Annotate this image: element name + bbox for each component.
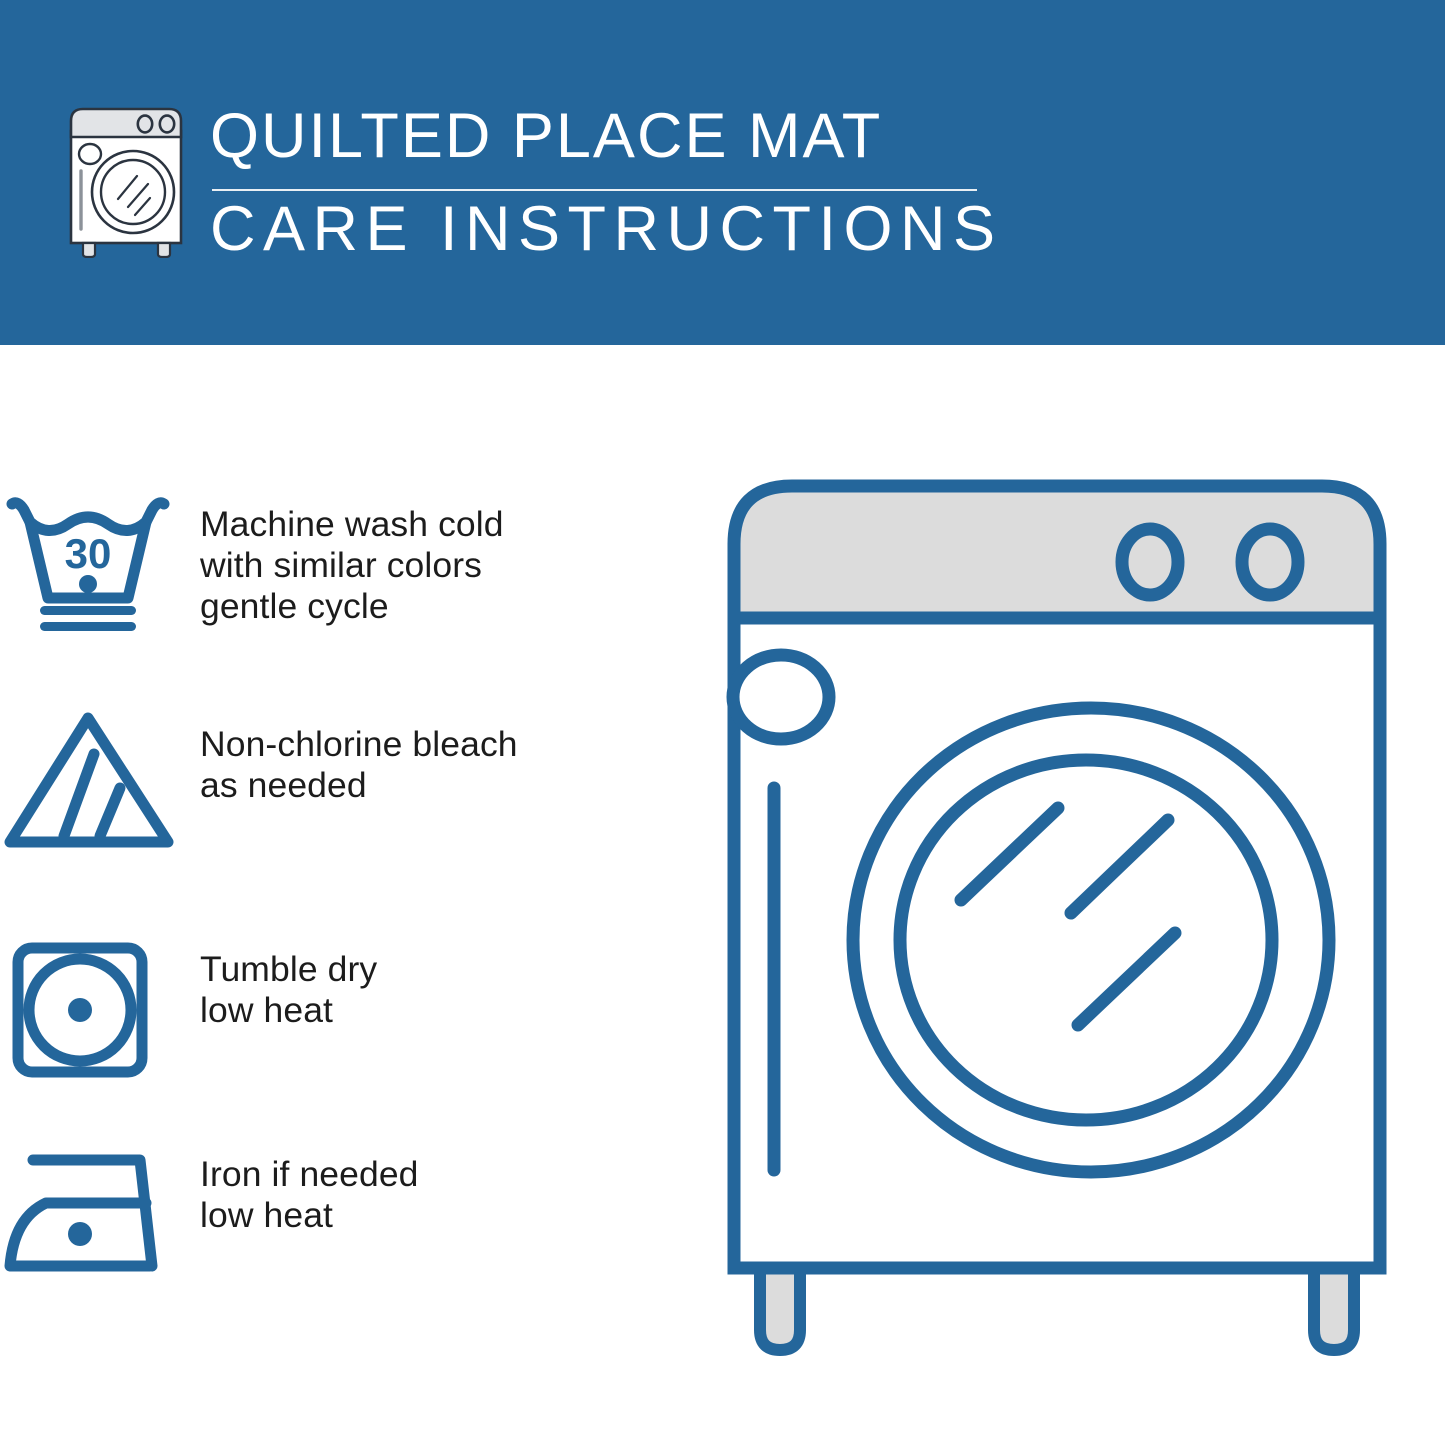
title-divider (212, 189, 977, 191)
care-instruction-item: Tumble dry low heat (0, 935, 700, 1095)
page-subtitle: CARE INSTRUCTIONS (210, 190, 1000, 268)
care-instruction-item: Iron if needed low heat (0, 1140, 700, 1300)
knob-left (1122, 529, 1178, 595)
care-text-line: Iron if needed (200, 1154, 419, 1195)
care-text-line: Machine wash cold (200, 504, 504, 545)
care-instruction-text: Tumble dry low heat (200, 935, 377, 1031)
non-chlorine-bleach-triangle-icon (0, 710, 200, 870)
iron-low-heat-icon (0, 1140, 200, 1300)
knob-right (1242, 529, 1298, 595)
care-instruction-text: Machine wash cold with similar colors ge… (200, 490, 504, 627)
care-text-line: with similar colors (200, 545, 504, 586)
washing-machine-icon (62, 103, 190, 258)
care-text-line: gentle cycle (200, 586, 504, 627)
care-text-line: Tumble dry (200, 949, 377, 990)
header-titles: QUILTED PLACE MAT CARE INSTRUCTIONS (210, 98, 1000, 268)
care-instruction-list: 30 Machine wash cold with similar colors… (0, 345, 700, 1445)
heat-dot (68, 998, 92, 1022)
care-text-line: low heat (200, 990, 377, 1031)
detergent-port (733, 655, 829, 739)
door-inner-ring (900, 760, 1272, 1120)
care-instruction-item: 30 Machine wash cold with similar colors… (0, 490, 700, 650)
care-instructions-page: QUILTED PLACE MAT CARE INSTRUCTIONS 30 (0, 0, 1445, 1445)
header-band: QUILTED PLACE MAT CARE INSTRUCTIONS (0, 0, 1445, 345)
care-text-line: Non-chlorine bleach (200, 724, 518, 765)
page-title: QUILTED PLACE MAT (210, 98, 1000, 174)
tumble-dry-low-heat-icon (0, 935, 200, 1095)
heat-dot (79, 575, 97, 593)
care-instruction-item: Non-chlorine bleach as needed (0, 710, 700, 870)
care-instruction-text: Iron if needed low heat (200, 1140, 419, 1236)
wash-tub-30-gentle-icon: 30 (0, 490, 200, 650)
care-text-line: low heat (200, 1195, 419, 1236)
front-load-washing-machine-illustration (718, 470, 1408, 1360)
wash-temperature-label: 30 (65, 530, 112, 577)
care-instruction-text: Non-chlorine bleach as needed (200, 710, 518, 806)
gentle-bar (40, 606, 136, 615)
care-text-line: as needed (200, 765, 518, 806)
heat-dot (68, 1222, 92, 1246)
gentle-bar (40, 622, 136, 631)
